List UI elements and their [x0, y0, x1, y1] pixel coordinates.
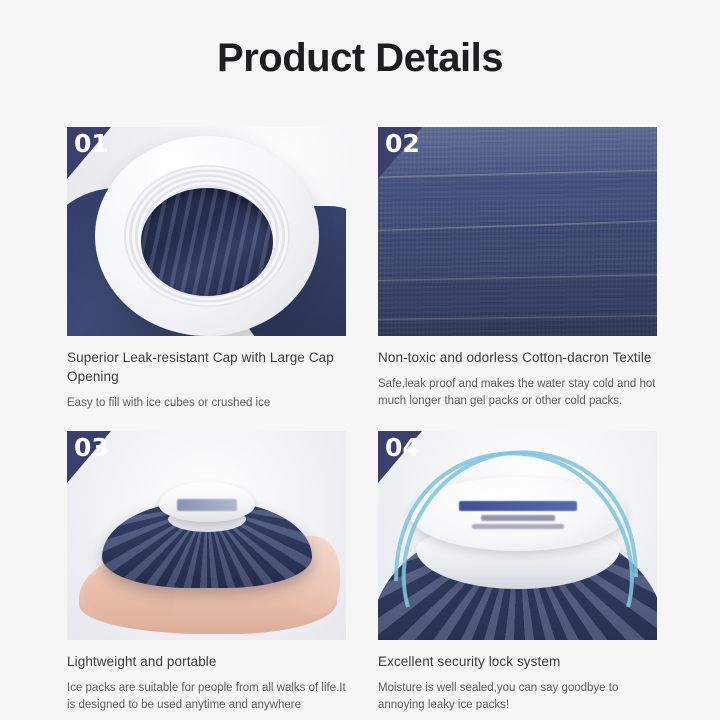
feature-card-04: 04 Excellent security lock system Moistu…: [378, 431, 657, 715]
cap-opening-illustration: [67, 127, 346, 336]
hand-holding-pack-illustration: [67, 431, 346, 640]
product-feature-grid: 01 Superior Leak-resistant Cap with Larg…: [67, 127, 655, 714]
security-lock-illustration: [378, 431, 657, 640]
feature-image-03: 03: [67, 431, 346, 640]
feature-card-03: 03 Lightweight and portable Ice packs ar…: [67, 431, 346, 715]
page-title: Product Details: [0, 0, 720, 78]
feature-title: Non-toxic and odorless Cotton-dacron Tex…: [378, 348, 657, 367]
cap-brand-text-blur: [177, 499, 237, 511]
product-details-page: Product Details 01 Superior Leak-resista…: [0, 0, 720, 720]
fabric-shading-overlay: [378, 127, 657, 336]
cap-brand-subtext-blur: [481, 515, 555, 521]
fabric-texture-illustration: [378, 127, 657, 336]
feature-caption-01: Superior Leak-resistant Cap with Large C…: [67, 336, 346, 413]
feature-caption-03: Lightweight and portable Ice packs are s…: [67, 640, 346, 715]
feature-description: Ice packs are suitable for people from a…: [67, 680, 346, 715]
feature-card-01: 01 Superior Leak-resistant Cap with Larg…: [67, 127, 346, 413]
cap-brand-origin-blur: [472, 524, 564, 529]
feature-title: Superior Leak-resistant Cap with Large C…: [67, 348, 346, 386]
cap-opening-hole: [141, 188, 273, 296]
feature-image-02: 02: [378, 127, 657, 336]
feature-title: Excellent security lock system: [378, 652, 657, 671]
cap-top-disc: [410, 477, 626, 551]
feature-description: Moisture is well sealed,you can say good…: [378, 680, 657, 715]
feature-description: Safe,leak proof and makes the water stay…: [378, 376, 657, 411]
feature-card-02: 02 Non-toxic and odorless Cotton-dacron …: [378, 127, 657, 413]
feature-caption-02: Non-toxic and odorless Cotton-dacron Tex…: [378, 336, 657, 411]
feature-image-01: 01: [67, 127, 346, 336]
cap-brand-logo-blur: [459, 501, 577, 511]
feature-image-04: 04: [378, 431, 657, 640]
feature-description: Easy to fill with ice cubes or crushed i…: [67, 395, 346, 412]
feature-caption-04: Excellent security lock system Moisture …: [378, 640, 657, 715]
feature-title: Lightweight and portable: [67, 652, 346, 671]
